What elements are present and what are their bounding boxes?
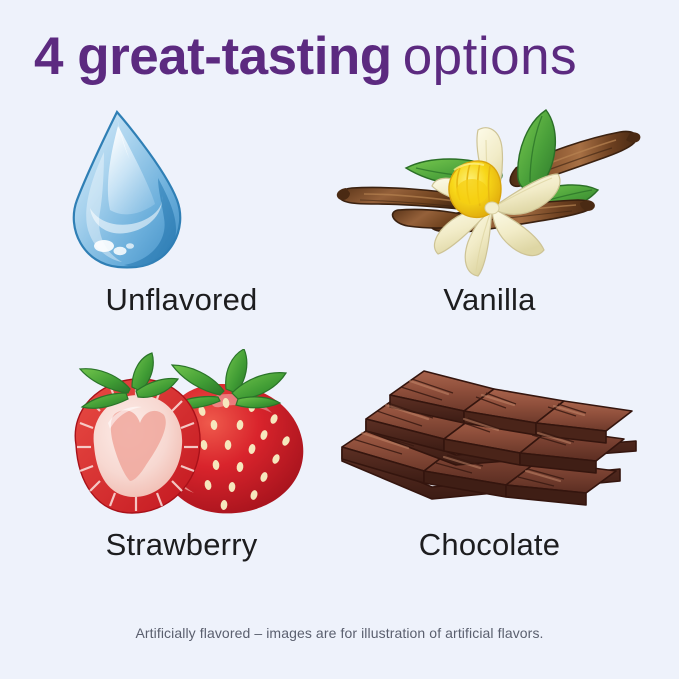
strawberry-icon: [12, 349, 351, 534]
chocolate-bars-icon: [320, 349, 659, 534]
option-label-chocolate: Chocolate: [320, 527, 659, 563]
flavor-options-infographic: 4 great-tastingoptions: [0, 0, 679, 679]
page-title-light: options: [403, 27, 577, 86]
water-droplet-icon: [12, 104, 351, 289]
page-title-strong: 4 great-tasting: [34, 27, 392, 86]
page-title: 4 great-tastingoptions: [34, 22, 654, 92]
option-chocolate: Chocolate: [320, 349, 659, 581]
option-label-strawberry: Strawberry: [12, 527, 351, 563]
option-strawberry: Strawberry: [12, 349, 351, 581]
option-label-unflavored: Unflavored: [12, 282, 351, 318]
footer-disclaimer: Artificially flavored – images are for i…: [0, 625, 679, 641]
vanilla-flower-icon: [320, 104, 659, 289]
option-vanilla: Vanilla: [320, 104, 659, 336]
options-grid: Unflavored: [0, 104, 679, 604]
option-label-vanilla: Vanilla: [320, 282, 659, 318]
option-unflavored: Unflavored: [12, 104, 351, 336]
